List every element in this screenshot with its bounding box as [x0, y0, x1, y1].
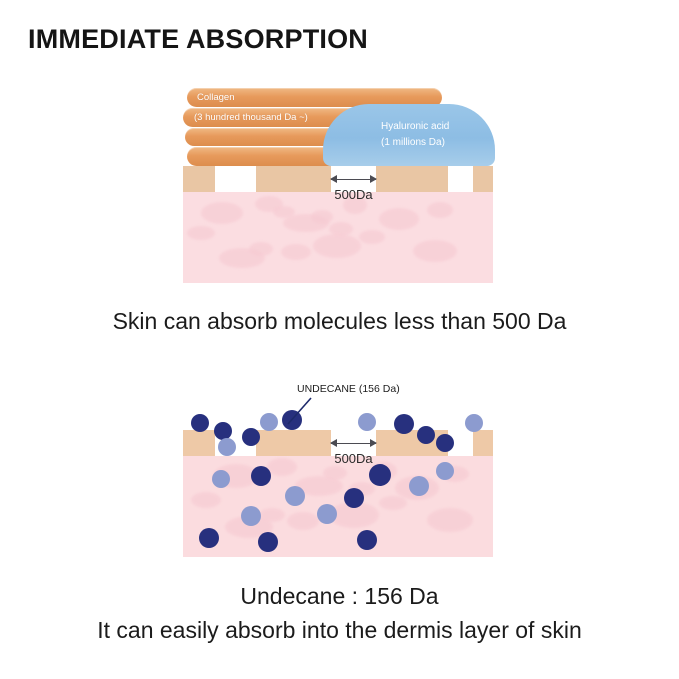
undecane-molecule-dot [260, 413, 278, 431]
corneum-block [473, 166, 493, 192]
undecane-molecule-dot [242, 428, 260, 446]
dermis-cell [359, 230, 385, 244]
corneum-block [256, 166, 331, 192]
undecane-molecule-dot [191, 414, 209, 432]
undecane-molecule-dot [212, 470, 230, 488]
hyaluronic-acid-label-name: Hyaluronic acid [381, 119, 449, 135]
corneum-block [376, 166, 448, 192]
undecane-molecule-dot [344, 488, 364, 508]
undecane-molecule-dot [436, 462, 454, 480]
undecane-molecule-dot [258, 532, 278, 552]
collagen-hyaluronic-diagram: Collagen (3 hundred thousand Da ~) Hyalu… [183, 88, 493, 283]
undecane-callout-label: UNDECANE (156 Da) [297, 383, 400, 395]
corneum-block [473, 430, 493, 456]
dermis-cell [287, 512, 319, 530]
dermis-cell [201, 202, 243, 224]
dermis-layer [183, 456, 493, 557]
undecane-molecule-dot [465, 414, 483, 432]
page-title: IMMEDIATE ABSORPTION [28, 24, 368, 55]
dermis-cell [379, 208, 419, 230]
dermis-cell [311, 210, 333, 224]
dermis-cell [343, 196, 367, 214]
dermis-cell [413, 240, 457, 262]
corneum-block [183, 166, 215, 192]
collagen-label-name: Collagen [197, 93, 235, 103]
caption-undecane-weight: Undecane : 156 Da [0, 583, 679, 610]
dermis-cell [427, 508, 473, 532]
dermis-layer [183, 192, 493, 283]
dermis-cell [191, 492, 221, 508]
corneum-block [256, 430, 331, 456]
undecane-molecule-dot [282, 410, 302, 430]
undecane-molecule-dot [417, 426, 435, 444]
undecane-molecule-dot [436, 434, 454, 452]
undecane-molecule-dot [317, 504, 337, 524]
undecane-absorption-diagram: 500Da [183, 382, 493, 557]
caption-undecane-absorption: It can easily absorb into the dermis lay… [0, 617, 679, 644]
dermis-cell [219, 248, 265, 268]
dermis-cell [313, 234, 361, 258]
dermis-cell [427, 202, 453, 218]
caption-middle: Skin can absorb molecules less than 500 … [0, 308, 679, 335]
undecane-molecule-dot [199, 528, 219, 548]
dermis-cell [323, 466, 347, 480]
dermis-cell [267, 458, 297, 476]
dermis-cell [281, 244, 311, 260]
undecane-molecule-dot [241, 506, 261, 526]
hyaluronic-acid-label-weight: (1 millions Da) [381, 135, 445, 151]
undecane-molecule-dot [409, 476, 429, 496]
corneum-block [183, 430, 215, 456]
dermis-cell [379, 496, 407, 510]
stratum-corneum-layer [183, 166, 493, 192]
dermis-cell [187, 226, 215, 240]
undecane-molecule-dot [369, 464, 391, 486]
hyaluronic-acid-blob: Hyaluronic acid (1 millions Da) [323, 104, 495, 166]
undecane-molecule-dot [285, 486, 305, 506]
undecane-molecule-dot [218, 438, 236, 456]
undecane-molecule-dot [214, 422, 232, 440]
dermis-cell [273, 206, 295, 218]
undecane-molecule-dot [251, 466, 271, 486]
undecane-molecule-dot [357, 530, 377, 550]
undecane-molecule-dot [358, 413, 376, 431]
collagen-label-weight: (3 hundred thousand Da ~) [194, 113, 308, 123]
undecane-molecule-dot [394, 414, 414, 434]
